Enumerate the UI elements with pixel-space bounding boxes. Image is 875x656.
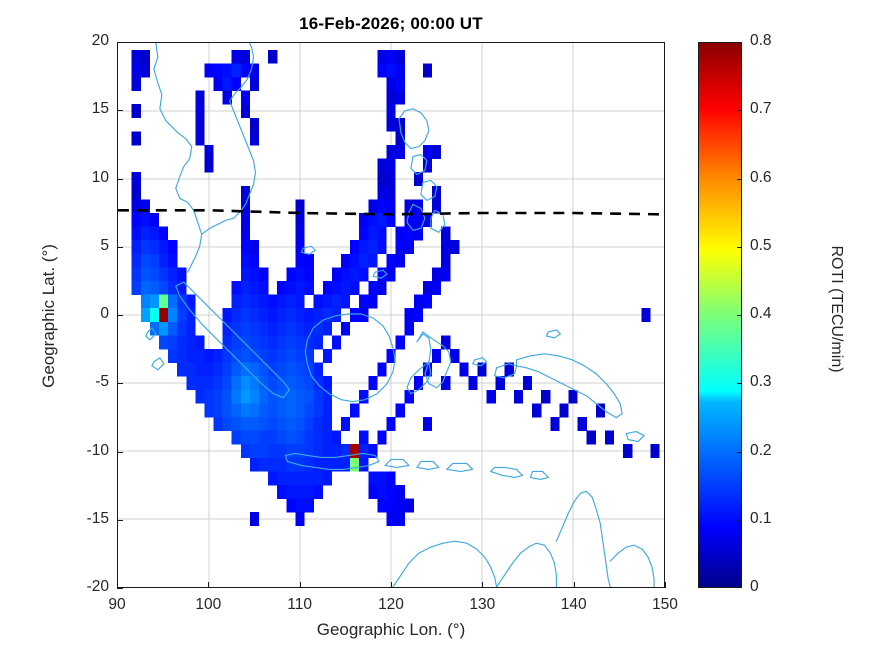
- y-tick: [117, 315, 123, 316]
- colorbar-tick: [737, 383, 742, 384]
- y-tick-label: -15: [65, 510, 109, 528]
- colorbar-tick-label: 0.1: [750, 510, 796, 528]
- colorbar-tick: [737, 110, 742, 111]
- y-tick-label: 10: [65, 169, 109, 187]
- x-tick-label: 120: [361, 596, 421, 614]
- colorbar-tick: [737, 247, 742, 248]
- colorbar-tick: [737, 179, 742, 180]
- colorbar-tick: [737, 520, 742, 521]
- x-tick: [300, 582, 301, 588]
- y-axis-title: Geographic Lat. (°): [39, 146, 59, 486]
- x-tick-label: 100: [178, 596, 238, 614]
- y-tick-label: -5: [65, 373, 109, 391]
- colorbar-tick-label: 0.8: [750, 32, 796, 50]
- x-tick: [391, 582, 392, 588]
- x-tick-label: 150: [635, 596, 695, 614]
- x-tick-label: 110: [270, 596, 330, 614]
- figure-canvas: 16-Feb-2026; 00:00 UT: [0, 0, 875, 656]
- map-plot-area[interactable]: [117, 42, 665, 588]
- y-tick-label: -10: [65, 442, 109, 460]
- y-tick: [117, 42, 123, 43]
- y-tick-label: 20: [65, 32, 109, 50]
- y-tick-label: -20: [65, 578, 109, 596]
- colorbar-tick-label: 0.3: [750, 373, 796, 391]
- x-tick: [482, 582, 483, 588]
- y-tick: [117, 110, 123, 111]
- y-tick-label: 5: [65, 237, 109, 255]
- x-tick: [665, 582, 666, 588]
- colorbar-tick-label: 0.7: [750, 100, 796, 118]
- y-tick-label: 0: [65, 305, 109, 323]
- x-tick: [208, 582, 209, 588]
- y-tick: [117, 588, 123, 589]
- colorbar-tick-label: 0.2: [750, 442, 796, 460]
- geomagnetic-equator-line: [118, 43, 664, 587]
- colorbar-tick-label: 0: [750, 578, 796, 596]
- colorbar-gradient: [699, 43, 741, 587]
- x-tick-label: 90: [87, 596, 147, 614]
- x-axis-title: Geographic Lon. (°): [117, 620, 665, 640]
- colorbar-tick: [737, 315, 742, 316]
- colorbar-tick-label: 0.4: [750, 305, 796, 323]
- y-tick: [117, 520, 123, 521]
- y-tick: [117, 179, 123, 180]
- x-tick-label: 140: [544, 596, 604, 614]
- y-tick: [117, 452, 123, 453]
- chart-title: 16-Feb-2026; 00:00 UT: [117, 14, 665, 34]
- y-tick-label: 15: [65, 100, 109, 118]
- x-tick: [574, 582, 575, 588]
- colorbar-title: ROTI (TECU/min): [827, 159, 845, 459]
- colorbar-tick-label: 0.6: [750, 169, 796, 187]
- colorbar-tick: [737, 452, 742, 453]
- x-tick-label: 130: [452, 596, 512, 614]
- colorbar[interactable]: [698, 42, 742, 588]
- y-tick: [117, 383, 123, 384]
- colorbar-tick-label: 0.5: [750, 237, 796, 255]
- y-tick: [117, 247, 123, 248]
